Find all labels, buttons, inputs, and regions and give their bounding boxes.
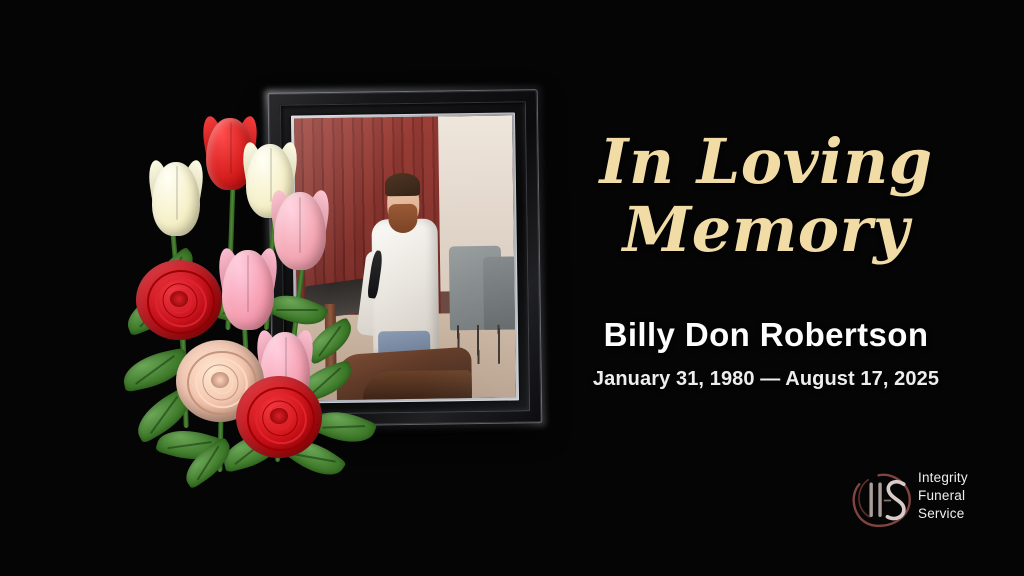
logo-line-1: Integrity <box>918 469 968 487</box>
funeral-home-logo[interactable]: Integrity Funeral Service <box>846 458 996 542</box>
logo-line-2: Funeral <box>918 487 968 505</box>
logo-line-3: Service <box>918 505 968 523</box>
rose-center <box>270 408 287 424</box>
tulip-seam <box>230 122 232 174</box>
headline-line-1: In Loving <box>556 132 976 192</box>
page-title: In Loving Memory <box>556 132 976 259</box>
memorial-slide: In Loving Memory Billy Don Robertson Jan… <box>0 0 1024 576</box>
ifs-monogram-icon <box>846 462 920 536</box>
rose-center <box>211 372 229 388</box>
flower-red-rose-lower <box>236 376 322 458</box>
flower-bouquet <box>118 100 358 470</box>
tulip-seam <box>270 148 272 201</box>
flower-cream-tulip-left <box>152 162 200 236</box>
life-dates: January 31, 1980 — August 17, 2025 <box>536 368 996 391</box>
headline-line-2: Memory <box>556 200 976 260</box>
flower-red-rose-upper <box>136 260 222 340</box>
funeral-home-name: Integrity Funeral Service <box>918 469 968 522</box>
deceased-name: Billy Don Robertson <box>536 316 996 354</box>
flower-pink-tulip-mid <box>222 250 274 330</box>
tulip-seam <box>176 166 178 219</box>
flower-pink-tulip-upper <box>274 192 326 270</box>
rose-center <box>170 291 187 307</box>
